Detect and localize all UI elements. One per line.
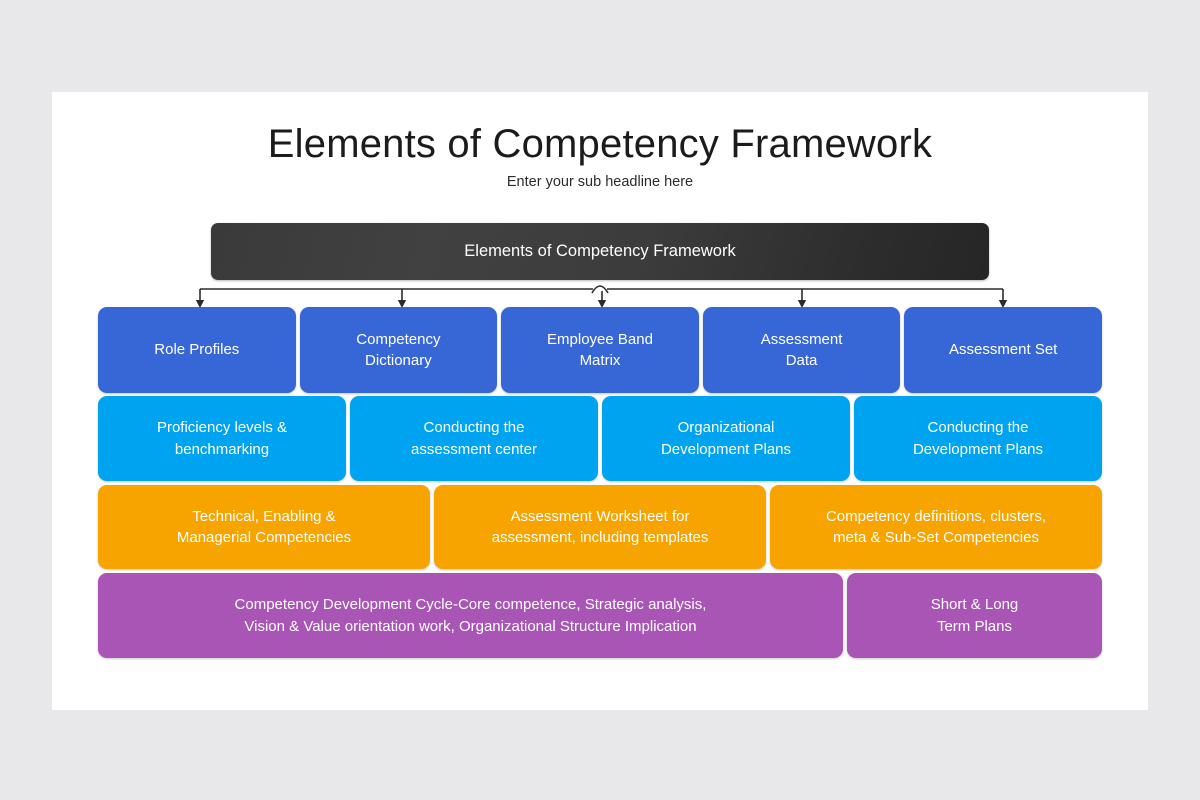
node-role-profiles[interactable]: Role Profiles bbox=[98, 307, 296, 393]
node-technical-enabling-managerial[interactable]: Technical, Enabling & Managerial Compete… bbox=[98, 485, 430, 569]
node-organizational-development-plans[interactable]: Organizational Development Plans bbox=[602, 396, 850, 481]
node-assessment-set[interactable]: Assessment Set bbox=[904, 307, 1102, 393]
node-proficiency-levels[interactable]: Proficiency levels & benchmarking bbox=[98, 396, 346, 481]
node-assessment-data[interactable]: Assessment Data bbox=[703, 307, 901, 393]
slide-canvas: Elements of Competency Framework Enter y… bbox=[52, 92, 1148, 710]
root-node-label: Elements of Competency Framework bbox=[464, 242, 735, 261]
node-conducting-assessment-center[interactable]: Conducting the assessment center bbox=[350, 396, 598, 481]
node-competency-dictionary[interactable]: Competency Dictionary bbox=[300, 307, 498, 393]
root-node[interactable]: Elements of Competency Framework bbox=[211, 223, 989, 280]
page-title: Elements of Competency Framework bbox=[52, 122, 1148, 167]
page-subtitle: Enter your sub headline here bbox=[52, 174, 1148, 190]
row-3: Technical, Enabling & Managerial Compete… bbox=[98, 485, 1102, 569]
row-2: Proficiency levels & benchmarking Conduc… bbox=[98, 396, 1102, 481]
node-employee-band-matrix[interactable]: Employee Band Matrix bbox=[501, 307, 699, 393]
node-competency-definitions[interactable]: Competency definitions, clusters, meta &… bbox=[770, 485, 1102, 569]
node-short-long-term-plans[interactable]: Short & Long Term Plans bbox=[847, 573, 1102, 658]
node-competency-development-cycle[interactable]: Competency Development Cycle-Core compet… bbox=[98, 573, 843, 658]
connector-lines bbox=[52, 278, 1148, 308]
row-4: Competency Development Cycle-Core compet… bbox=[98, 573, 1102, 658]
node-conducting-development-plans[interactable]: Conducting the Development Plans bbox=[854, 396, 1102, 481]
row-1: Role Profiles Competency Dictionary Empl… bbox=[98, 307, 1102, 393]
node-assessment-worksheet[interactable]: Assessment Worksheet for assessment, inc… bbox=[434, 485, 766, 569]
